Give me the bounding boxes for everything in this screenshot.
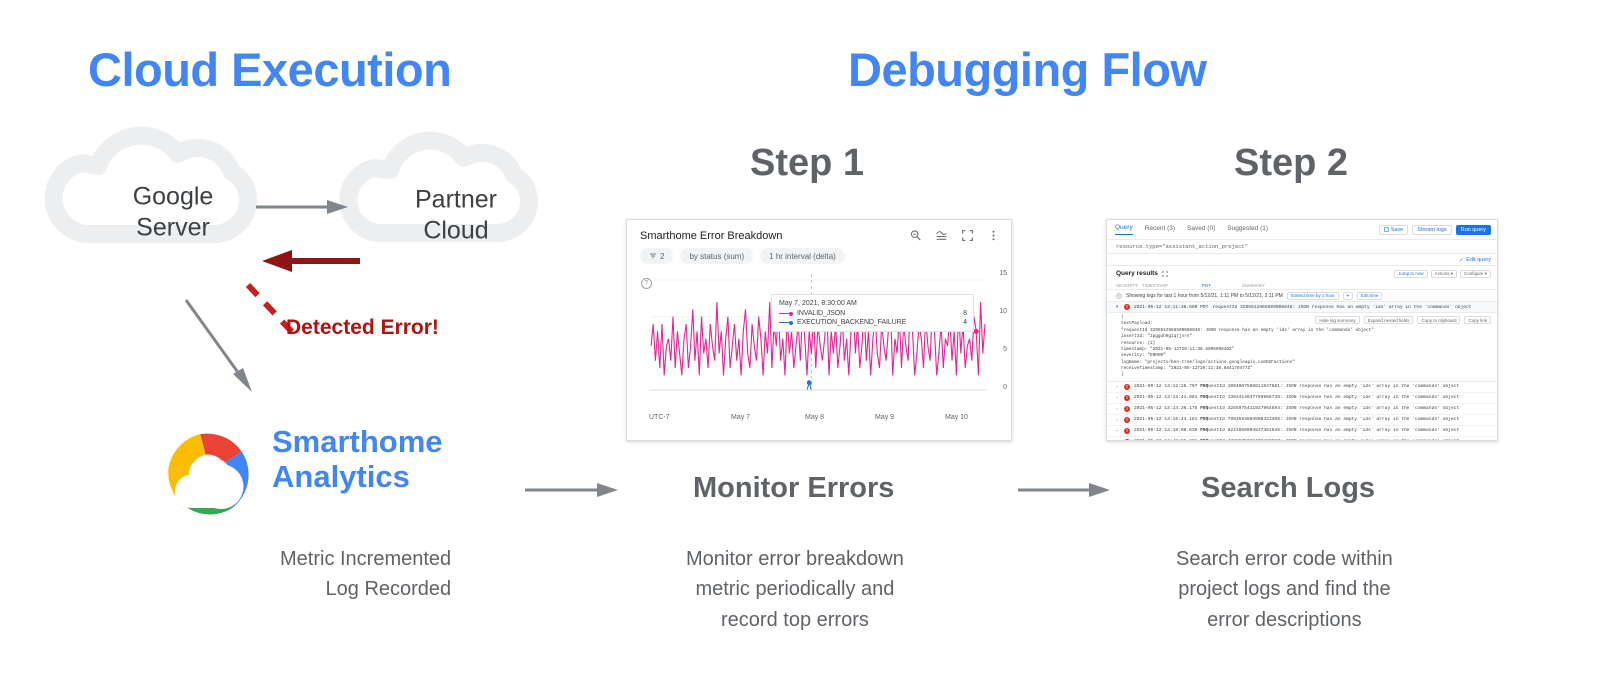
expand-caret-icon[interactable]: › bbox=[1116, 395, 1120, 400]
configure-button[interactable]: Configure ▾ bbox=[1460, 270, 1491, 278]
logs-explorer-panel[interactable]: Query Recent (3) Saved (0) Suggested (1)… bbox=[1106, 219, 1498, 441]
tab-recent[interactable]: Recent (3) bbox=[1145, 225, 1175, 235]
col-severity: SEVERITY bbox=[1116, 283, 1142, 288]
flow-description-1: Monitor error breakdown metric periodica… bbox=[686, 544, 904, 635]
actions-button[interactable]: Actions ▾ bbox=[1431, 270, 1457, 278]
json-payload: { textPayload: "requestId 32955129865090… bbox=[1121, 315, 1488, 379]
col-pdt: PDT bbox=[1202, 283, 1242, 288]
chip-group-by-label: by status (sum) bbox=[689, 252, 744, 261]
extend-time-button[interactable]: Extend time by 1 hour bbox=[1287, 292, 1339, 300]
tooltip-row-invalid-json: INVALID_JSON 8 bbox=[779, 310, 967, 317]
step-2-title: Step 2 bbox=[1234, 142, 1348, 185]
table-row[interactable]: ›2021-05-12 13:13:41.881 PDTrequestId 13… bbox=[1107, 393, 1497, 404]
copy-link-button[interactable]: Copy link bbox=[1464, 316, 1491, 324]
chart-marker-point-pink bbox=[974, 329, 979, 334]
page-title-debugging-flow: Debugging Flow bbox=[848, 42, 1207, 97]
log-row-timestamp: 2021-05-12 13:48:08.891 PDT bbox=[1134, 439, 1196, 441]
expanded-log-entry-json: Hide log summary Expand nested fields Co… bbox=[1107, 313, 1497, 382]
chart-marker-point bbox=[807, 380, 812, 385]
time-range-text: Showing logs for last 1 hour from 5/12/2… bbox=[1126, 293, 1283, 299]
pencil-icon bbox=[1459, 257, 1464, 262]
y-tick-5: 5 bbox=[1003, 346, 1007, 353]
x-tick-may8: May 8 bbox=[805, 414, 824, 421]
chip-group-by[interactable]: by status (sum) bbox=[680, 248, 753, 264]
error-severity-icon bbox=[1124, 417, 1130, 423]
query-editor-row[interactable]: resource.type="assistant_action_project" bbox=[1107, 240, 1497, 254]
zoom-in-icon[interactable] bbox=[909, 229, 922, 242]
tab-suggested[interactable]: Suggested (1) bbox=[1227, 225, 1268, 235]
tooltip-swatch-pink bbox=[779, 312, 793, 316]
table-row[interactable]: ›2021-05-12 13:16:08.639 PDTrequestId 82… bbox=[1107, 426, 1497, 437]
product-name-line1: Smarthome bbox=[272, 424, 443, 459]
request-arrow-icon bbox=[256, 200, 348, 214]
tab-query[interactable]: Query bbox=[1115, 224, 1133, 235]
log-row-summary: requestId 1004907598811947581: JSON resp… bbox=[1200, 384, 1459, 389]
flow-arrow-1-icon bbox=[525, 483, 618, 497]
expand-caret-icon[interactable]: › bbox=[1116, 384, 1120, 389]
flow-heading-monitor-errors: Monitor Errors bbox=[693, 472, 894, 505]
query-results-title: Query results bbox=[1116, 270, 1158, 277]
json-line: } bbox=[1121, 372, 1488, 378]
chip-filter-count-label: 2 bbox=[660, 252, 664, 261]
tab-saved[interactable]: Saved (0) bbox=[1187, 225, 1215, 235]
stream-logs-button[interactable]: Stream logs bbox=[1412, 225, 1451, 235]
table-row[interactable]: ›2021-05-12 13:48:08.891 PDTrequestId 47… bbox=[1107, 437, 1497, 441]
logs-query-tabs: Query Recent (3) Saved (0) Suggested (1)… bbox=[1107, 220, 1497, 240]
error-severity-icon bbox=[1124, 406, 1130, 412]
log-row-timestamp: 2021-05-12 13:14:36.175 PDT bbox=[1134, 406, 1196, 411]
collapse-caret-icon[interactable]: ▾ bbox=[1116, 304, 1120, 310]
metric-arrow-icon bbox=[186, 300, 252, 392]
step-1-title: Step 1 bbox=[750, 142, 864, 185]
error-severity-icon bbox=[1124, 439, 1130, 441]
detected-error-label: Detected Error! bbox=[286, 316, 439, 340]
error-severity-icon bbox=[1124, 395, 1130, 401]
partner-cloud-label: Partner Cloud bbox=[386, 185, 526, 246]
log-row-timestamp: 2021-05-12 13:13:41.881 PDT bbox=[1134, 395, 1196, 400]
x-tick-may7: May 7 bbox=[731, 414, 750, 421]
tooltip-name-invalid-json: INVALID_JSON bbox=[797, 310, 949, 317]
table-row[interactable]: ›2021-05-12 13:12:28.797 PDTrequestId 10… bbox=[1107, 382, 1497, 393]
expanded-entry-timestamp: 2021-05-12 13:11:38.580 PDT bbox=[1134, 305, 1208, 310]
tooltip-value-invalid-json: 8 bbox=[953, 310, 967, 317]
chart-header-icons bbox=[909, 229, 1000, 242]
y-tick-15: 15 bbox=[999, 270, 1007, 277]
google-server-line2: Server bbox=[98, 212, 248, 243]
partner-cloud-line2: Cloud bbox=[386, 215, 526, 246]
error-severity-icon bbox=[1124, 304, 1130, 310]
chart-header: Smarthome Error Breakdown bbox=[627, 220, 1011, 244]
expand-caret-icon[interactable]: › bbox=[1116, 406, 1120, 411]
clock-icon bbox=[1116, 293, 1122, 299]
error-breakdown-chart-panel[interactable]: Smarthome Error Breakdown bbox=[626, 219, 1012, 441]
filter-icon bbox=[649, 252, 657, 260]
save-button-label: Save bbox=[1391, 227, 1404, 233]
error-response-arrow-icon bbox=[262, 250, 360, 272]
edit-query-label: Edit query bbox=[1466, 257, 1491, 263]
chip-interval-label: 1 hr interval (delta) bbox=[769, 252, 836, 261]
error-severity-icon bbox=[1124, 384, 1130, 390]
chip-interval[interactable]: 1 hr interval (delta) bbox=[760, 248, 845, 264]
x-tick-may9: May 9 bbox=[875, 414, 894, 421]
tooltip-name-execution-backend-failure: EXECUTION_BACKEND_FAILURE bbox=[797, 319, 949, 326]
edit-query-button[interactable]: Edit query bbox=[1459, 257, 1491, 263]
flow-description-2: Search error code within project logs an… bbox=[1176, 544, 1393, 635]
flow-heading-search-logs: Search Logs bbox=[1201, 472, 1375, 505]
copy-to-clipboard-button[interactable]: Copy to clipboard bbox=[1417, 316, 1460, 324]
product-name: Smarthome Analytics bbox=[272, 424, 443, 495]
fullscreen-icon[interactable] bbox=[961, 229, 974, 242]
chart-filter-chips: 2 by status (sum) 1 hr interval (delta) bbox=[627, 244, 1011, 268]
log-row-summary: requestId 4728975036475488937: JSON resp… bbox=[1200, 439, 1459, 441]
edit-time-button[interactable]: Edit time bbox=[1357, 292, 1383, 300]
run-query-button[interactable]: Run query bbox=[1456, 225, 1491, 235]
save-icon bbox=[1384, 227, 1389, 232]
google-cloud-logo bbox=[156, 421, 264, 529]
chart-canvas bbox=[627, 272, 1012, 410]
edit-query-row: Edit query bbox=[1107, 254, 1497, 266]
log-row-timestamp: 2021-05-12 13:16:08.639 PDT bbox=[1134, 428, 1196, 433]
jump-to-now-button[interactable]: Jump to now bbox=[1394, 270, 1428, 278]
expand-caret-icon[interactable]: › bbox=[1116, 417, 1120, 422]
x-tick-utc: UTC-7 bbox=[649, 414, 670, 421]
tooltip-row-execution-backend-failure: EXECUTION_BACKEND_FAILURE 4 bbox=[779, 319, 967, 326]
expand-results-icon[interactable] bbox=[1162, 271, 1168, 277]
error-severity-icon bbox=[1124, 428, 1130, 434]
log-row-summary: requestId 1383414647769966738: JSON resp… bbox=[1200, 395, 1459, 400]
chart-x-tick-labels: UTC-7 May 7 May 8 May 9 May 10 bbox=[627, 414, 1011, 426]
google-server-node: Google Server bbox=[98, 172, 248, 252]
expanded-log-entry-header[interactable]: ▾ 2021-05-12 13:11:38.580 PDT requestId … bbox=[1107, 302, 1497, 313]
table-row[interactable]: ›2021-05-12 13:15:44.181 PDTrequestId 79… bbox=[1107, 415, 1497, 426]
query-results-header: Query results Jump to now Actions ▾ Conf… bbox=[1107, 266, 1497, 281]
log-entry-actions: Hide log summary Expand nested fields Co… bbox=[1315, 316, 1491, 324]
chart-title: Smarthome Error Breakdown bbox=[640, 230, 909, 242]
query-input[interactable]: resource.type="assistant_action_project" bbox=[1116, 243, 1491, 250]
partner-cloud-line1: Partner bbox=[386, 185, 526, 216]
tooltip-swatch-blue bbox=[779, 321, 793, 325]
chip-filter-count[interactable]: 2 bbox=[640, 248, 673, 264]
chart-plot-area[interactable]: ? 15 10 5 0 UTC-7 May 7 May 8 May 9 May … bbox=[627, 272, 1011, 428]
expand-caret-icon[interactable]: › bbox=[1116, 428, 1120, 433]
tooltip-value-execution-backend-failure: 4 bbox=[953, 319, 967, 326]
flow-arrow-2-icon bbox=[1018, 483, 1110, 497]
table-row[interactable]: ›2021-05-12 13:14:36.175 PDTrequestId 32… bbox=[1107, 404, 1497, 415]
log-row-timestamp: 2021-05-12 13:12:28.797 PDT bbox=[1134, 384, 1196, 389]
tooltip-timestamp: May 7, 2021, 8:30:00 AM bbox=[779, 300, 967, 307]
page-title-cloud-execution: Cloud Execution bbox=[88, 42, 451, 97]
expand-caret-icon[interactable]: › bbox=[1116, 439, 1120, 441]
help-icon[interactable]: ? bbox=[641, 278, 652, 289]
extend-time-dropdown-icon[interactable]: ▾ bbox=[1343, 292, 1353, 300]
partner-cloud-node: Partner Cloud bbox=[386, 175, 526, 255]
time-range-banner: Showing logs for last 1 hour from 5/12/2… bbox=[1107, 290, 1497, 302]
expand-nested-fields-button[interactable]: Expand nested fields bbox=[1364, 316, 1414, 324]
x-tick-may10: May 10 bbox=[945, 414, 968, 421]
google-server-label: Google Server bbox=[98, 182, 248, 243]
y-tick-0: 0 bbox=[1003, 384, 1007, 391]
chart-series-execution-backend-failure bbox=[651, 383, 985, 390]
log-row-timestamp: 2021-05-12 13:15:44.181 PDT bbox=[1134, 417, 1196, 422]
log-row-summary: requestId 3255975411927964594: JSON resp… bbox=[1200, 406, 1459, 411]
more-vert-icon[interactable] bbox=[987, 229, 1000, 242]
product-name-line2: Analytics bbox=[272, 459, 443, 494]
chart-tooltip: May 7, 2021, 8:30:00 AM INVALID_JSON 8 E… bbox=[771, 294, 974, 332]
flow-description-0: Metric Incremented Log Recorded bbox=[280, 544, 451, 605]
log-row-summary: requestId 8221850903837461645: JSON resp… bbox=[1200, 428, 1459, 433]
google-server-line1: Google bbox=[98, 182, 248, 213]
log-row-summary: requestId 7993593803808423398: JSON resp… bbox=[1200, 417, 1459, 422]
log-rows-list[interactable]: ›2021-05-12 13:12:28.797 PDTrequestId 10… bbox=[1107, 382, 1497, 441]
expanded-entry-summary: requestId 3295512986509006048: JSON resp… bbox=[1212, 305, 1471, 310]
hide-log-summary-button[interactable]: Hide log summary bbox=[1315, 316, 1359, 324]
col-summary: SUMMARY bbox=[1242, 283, 1265, 288]
save-button[interactable]: Save bbox=[1379, 225, 1409, 235]
y-tick-10: 10 bbox=[999, 308, 1007, 315]
logs-column-headers: SEVERITY TIMESTAMP PDT SUMMARY bbox=[1107, 281, 1497, 290]
col-timestamp: TIMESTAMP bbox=[1142, 283, 1202, 288]
chart-type-icon[interactable] bbox=[935, 229, 948, 242]
